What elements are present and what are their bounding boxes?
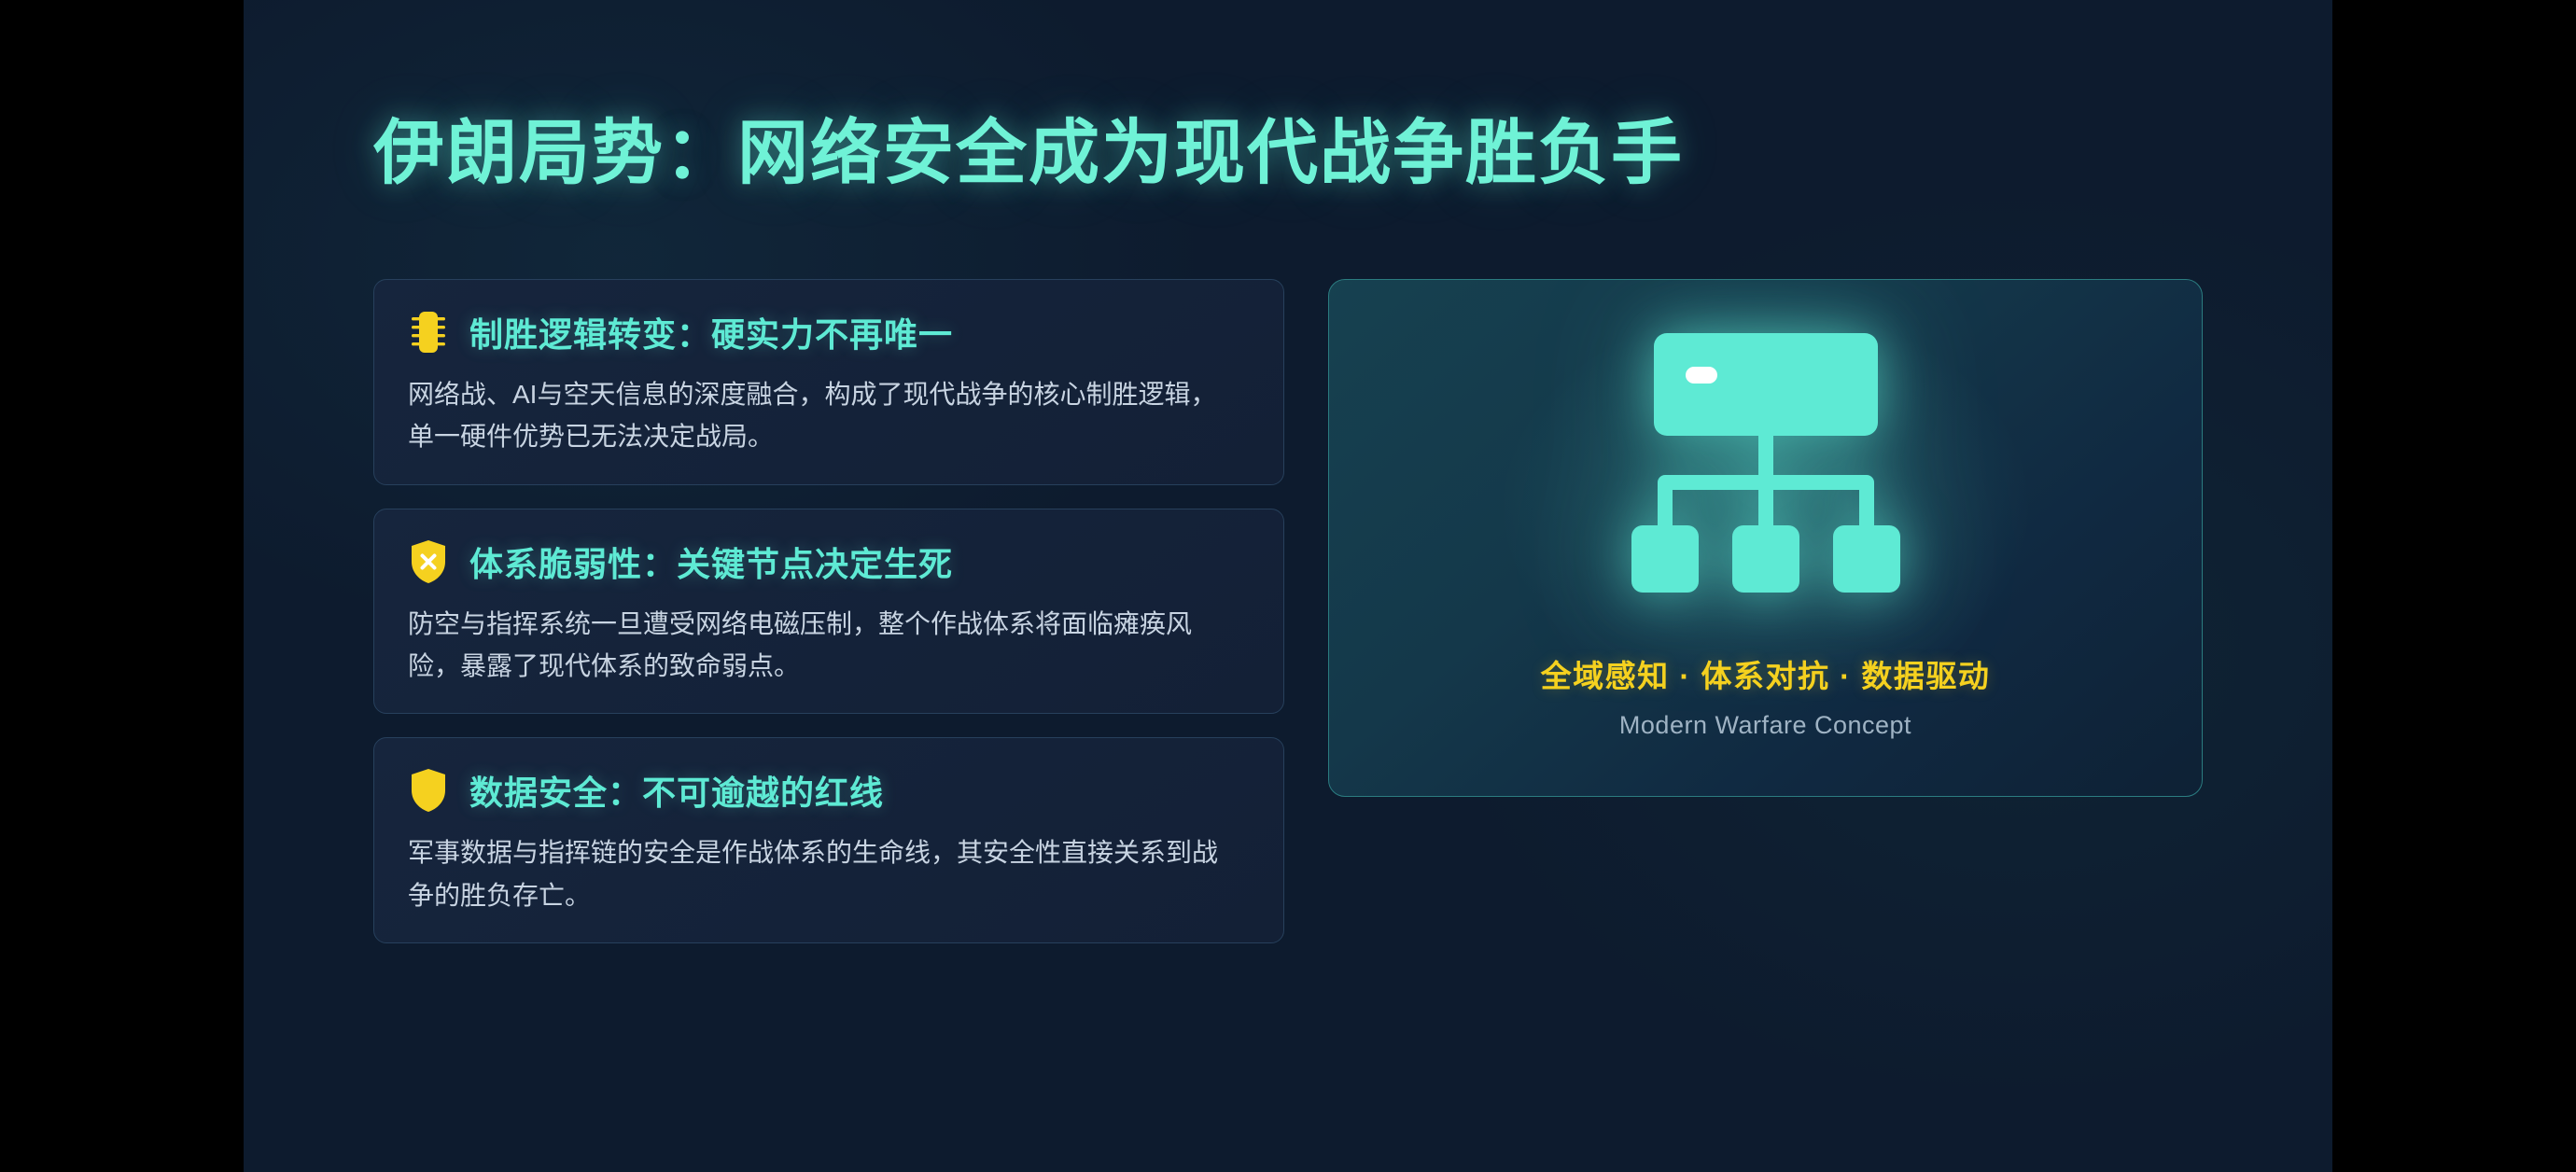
card-body: 网络战、AI与空天信息的深度融合，构成了现代战争的核心制胜逻辑，单一硬件优势已无… <box>408 373 1239 458</box>
card-body: 防空与指挥系统一旦遭受网络电磁压制，整个作战体系将面临瘫痪风险，暴露了现代体系的… <box>408 603 1239 688</box>
info-card-winning-logic[interactable]: 制胜逻辑转变：硬实力不再唯一 网络战、AI与空天信息的深度融合，构成了现代战争的… <box>373 279 1284 485</box>
network-topology-icon <box>1617 313 1915 597</box>
microchip-icon <box>408 309 449 356</box>
visual-panel: 全域感知 · 体系对抗 · 数据驱动 Modern Warfare Concep… <box>1328 279 2203 797</box>
card-title: 体系脆弱性：关键节点决定生死 <box>469 537 953 586</box>
card-header: 数据安全：不可逾越的红线 <box>408 766 1250 815</box>
shield-x-icon <box>408 538 449 585</box>
panel-subcaption: Modern Warfare Concept <box>1619 711 1911 740</box>
info-card-system-fragility[interactable]: 体系脆弱性：关键节点决定生死 防空与指挥系统一旦遭受网络电磁压制，整个作战体系将… <box>373 509 1284 715</box>
slide: 伊朗局势：网络安全成为现代战争胜负手 <box>244 0 2332 1172</box>
slide-content: 制胜逻辑转变：硬实力不再唯一 网络战、AI与空天信息的深度融合，构成了现代战争的… <box>373 279 2203 797</box>
card-title: 制胜逻辑转变：硬实力不再唯一 <box>469 308 953 356</box>
panel-caption: 全域感知 · 体系对抗 · 数据驱动 <box>1541 651 1991 696</box>
cards-column: 制胜逻辑转变：硬实力不再唯一 网络战、AI与空天信息的深度融合，构成了现代战争的… <box>373 279 1284 797</box>
card-header: 制胜逻辑转变：硬实力不再唯一 <box>408 308 1250 356</box>
shield-icon <box>408 767 449 814</box>
page-title: 伊朗局势：网络安全成为现代战争胜负手 <box>373 95 1684 198</box>
info-card-data-security[interactable]: 数据安全：不可逾越的红线 军事数据与指挥链的安全是作战体系的生命线，其安全性直接… <box>373 737 1284 943</box>
card-body: 军事数据与指挥链的安全是作战体系的生命线，其安全性直接关系到战争的胜负存亡。 <box>408 831 1239 916</box>
card-title: 数据安全：不可逾越的红线 <box>469 766 884 815</box>
card-header: 体系脆弱性：关键节点决定生死 <box>408 537 1250 586</box>
screen: 伊朗局势：网络安全成为现代战争胜负手 <box>0 0 2576 1172</box>
